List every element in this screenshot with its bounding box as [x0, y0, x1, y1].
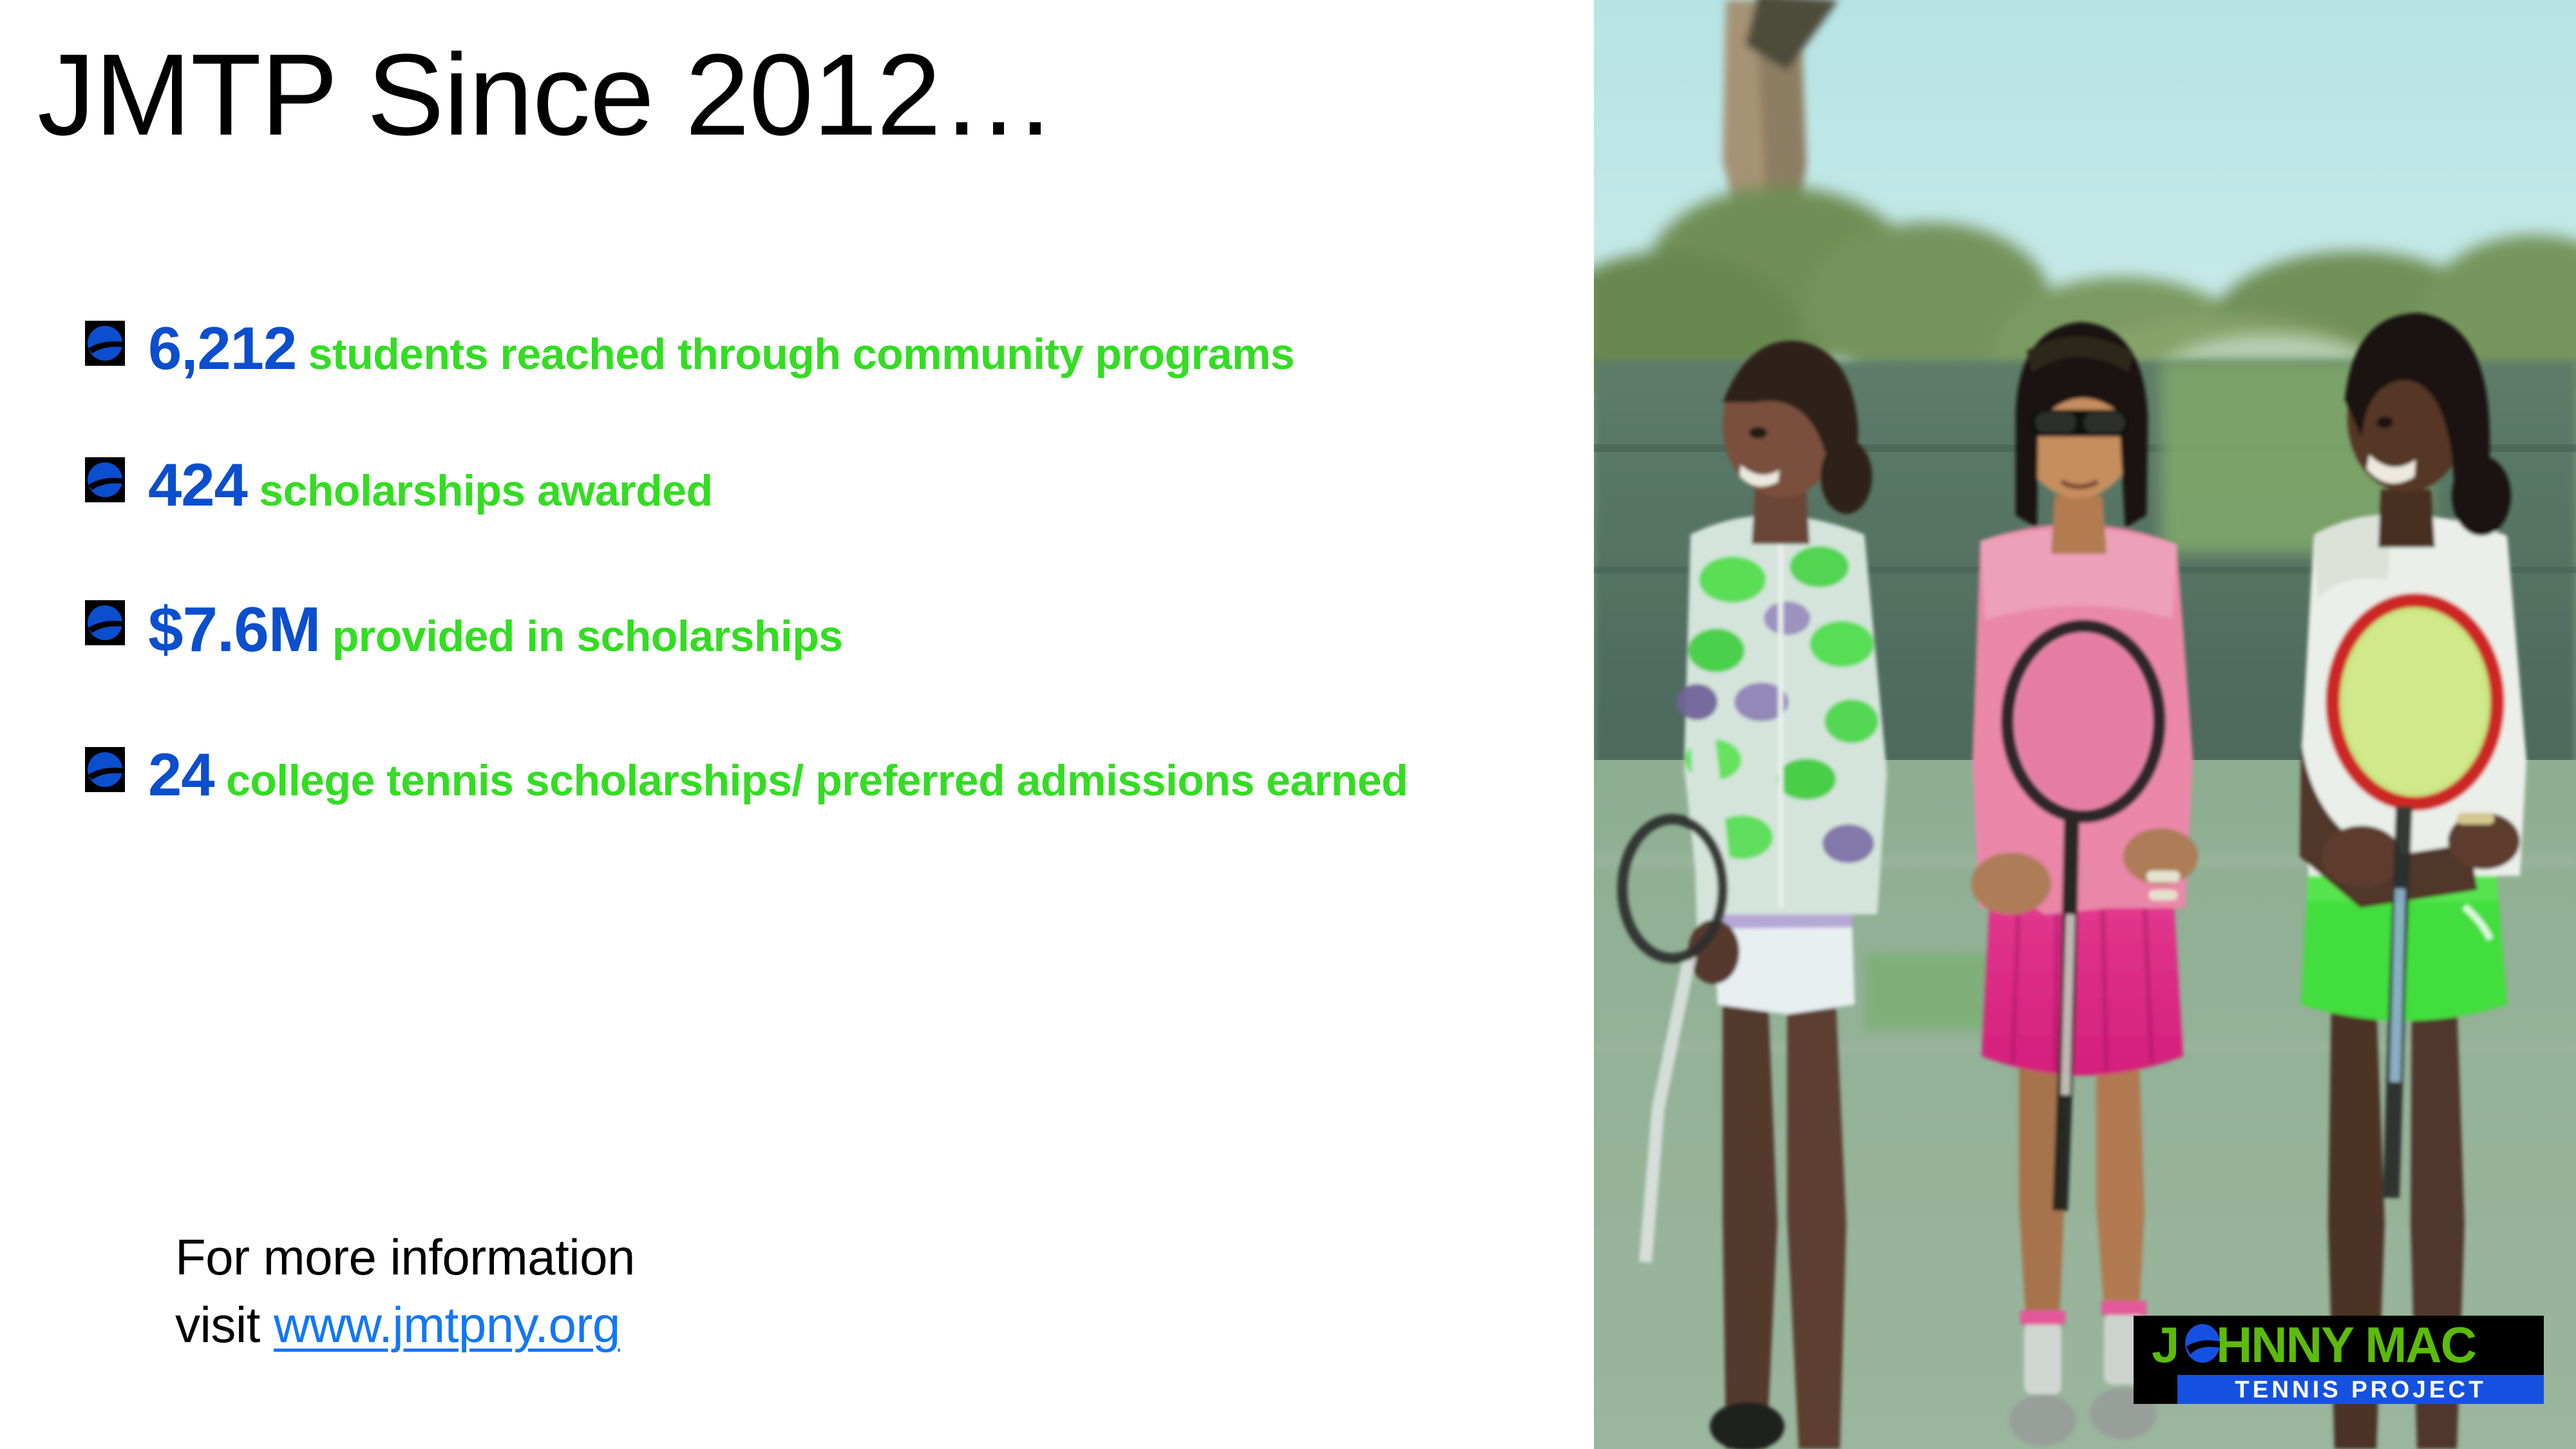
more-info-line2: visit www.jmtpny.org: [175, 1291, 635, 1359]
stat-number: $7.6M: [148, 594, 320, 665]
johnny-mac-tennis-project-logo: JOHNNY MAC TENNIS PROJECT: [2134, 1316, 2544, 1404]
list-item: $7.6M provided in scholarships: [85, 589, 1553, 670]
list-item-text: $7.6M provided in scholarships: [148, 589, 1553, 670]
slide-canvas: JMTP Since 2012… 6,212 students reached …: [0, 0, 2576, 1449]
page-title: JMTP Since 2012…: [37, 37, 1056, 153]
logo-top-bar: JOHNNY MAC: [2134, 1316, 2544, 1372]
logo-subtitle: TENNIS PROJECT: [2177, 1375, 2544, 1404]
logo-word-before-ball: J: [2152, 1316, 2178, 1373]
more-info-line1: For more information: [175, 1224, 635, 1291]
stat-description: scholarships awarded: [247, 466, 713, 515]
list-item: 424 scholarships awarded: [85, 446, 1553, 524]
list-item-text: 6,212 students reached through community…: [148, 309, 1553, 388]
tennis-ball-icon: [2184, 1323, 2221, 1363]
website-link[interactable]: www.jmtpny.org: [274, 1296, 620, 1353]
stat-description: students reached through community progr…: [296, 330, 1294, 379]
logo-word-after-ball: HNNY MAC: [2216, 1316, 2476, 1373]
more-info-block: For more information visit www.jmtpny.or…: [175, 1224, 635, 1359]
tennis-ball-bullet-icon: [85, 321, 125, 366]
list-item-text: 424 scholarships awarded: [148, 446, 1553, 524]
visit-label: visit: [175, 1296, 274, 1353]
statistics-list: 6,212 students reached through community…: [85, 309, 1553, 814]
tennis-ball-bullet-icon: [85, 747, 125, 792]
photo-tennis-players: [1594, 0, 2576, 1449]
photo-illustration: [1594, 0, 2576, 1449]
stat-number: 424: [148, 451, 247, 518]
tennis-ball-bullet-icon: [85, 600, 125, 645]
list-item: 6,212 students reached through community…: [85, 309, 1553, 388]
stat-number: 24: [148, 741, 214, 808]
stat-description: provided in scholarships: [320, 612, 842, 661]
tennis-ball-bullet-icon: [85, 457, 125, 502]
list-item: 24 college tennis scholarships/ preferre…: [85, 735, 1553, 814]
stat-number: 6,212: [148, 314, 296, 382]
logo-subtitle-bar: TENNIS PROJECT: [2177, 1375, 2544, 1404]
stat-description: college tennis scholarships/ preferred a…: [214, 756, 1408, 805]
list-item-text: 24 college tennis scholarships/ preferre…: [148, 735, 1553, 814]
